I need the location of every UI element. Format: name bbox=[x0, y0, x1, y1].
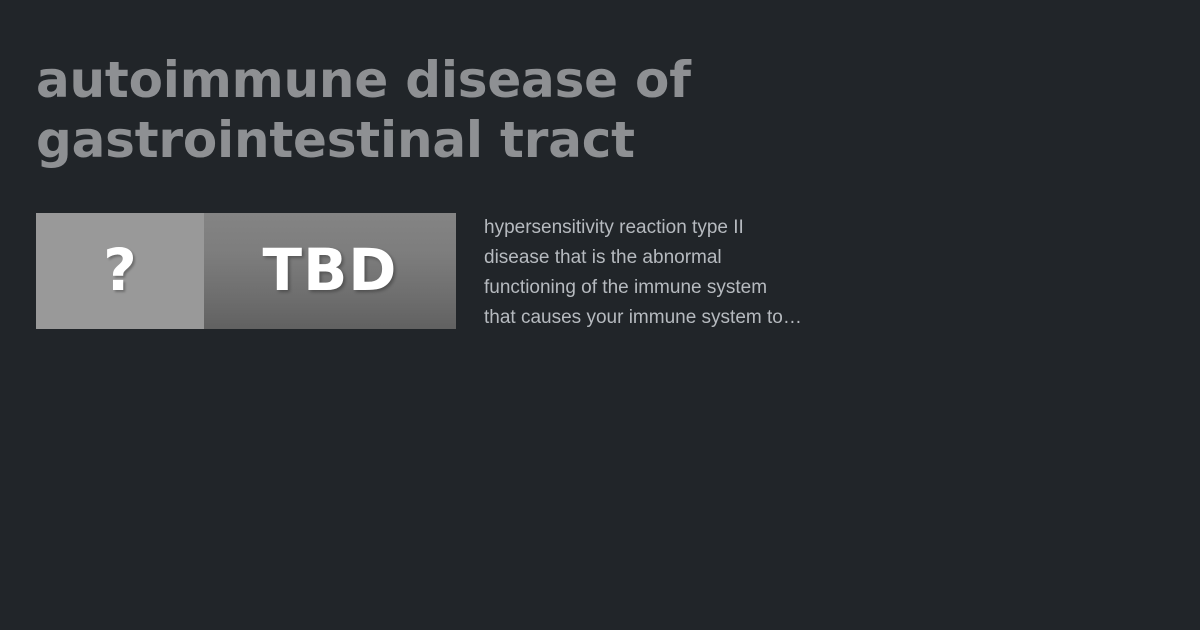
card-body: ? TBD hypersensitivity reaction type II … bbox=[36, 213, 1166, 333]
open-graph-preview-card: autoimmune disease of gastrointestinal t… bbox=[0, 0, 1200, 630]
thumbnail-unknown-panel: ? bbox=[36, 213, 204, 329]
question-mark-icon: ? bbox=[103, 241, 137, 299]
page-title: autoimmune disease of gastrointestinal t… bbox=[36, 50, 916, 170]
thumbnail-image: ? TBD bbox=[36, 213, 456, 329]
description-text: hypersensitivity reaction type II diseas… bbox=[484, 213, 864, 333]
thumbnail-tbd-label: TBD bbox=[263, 241, 398, 299]
thumbnail-tbd-panel: TBD bbox=[204, 213, 456, 329]
